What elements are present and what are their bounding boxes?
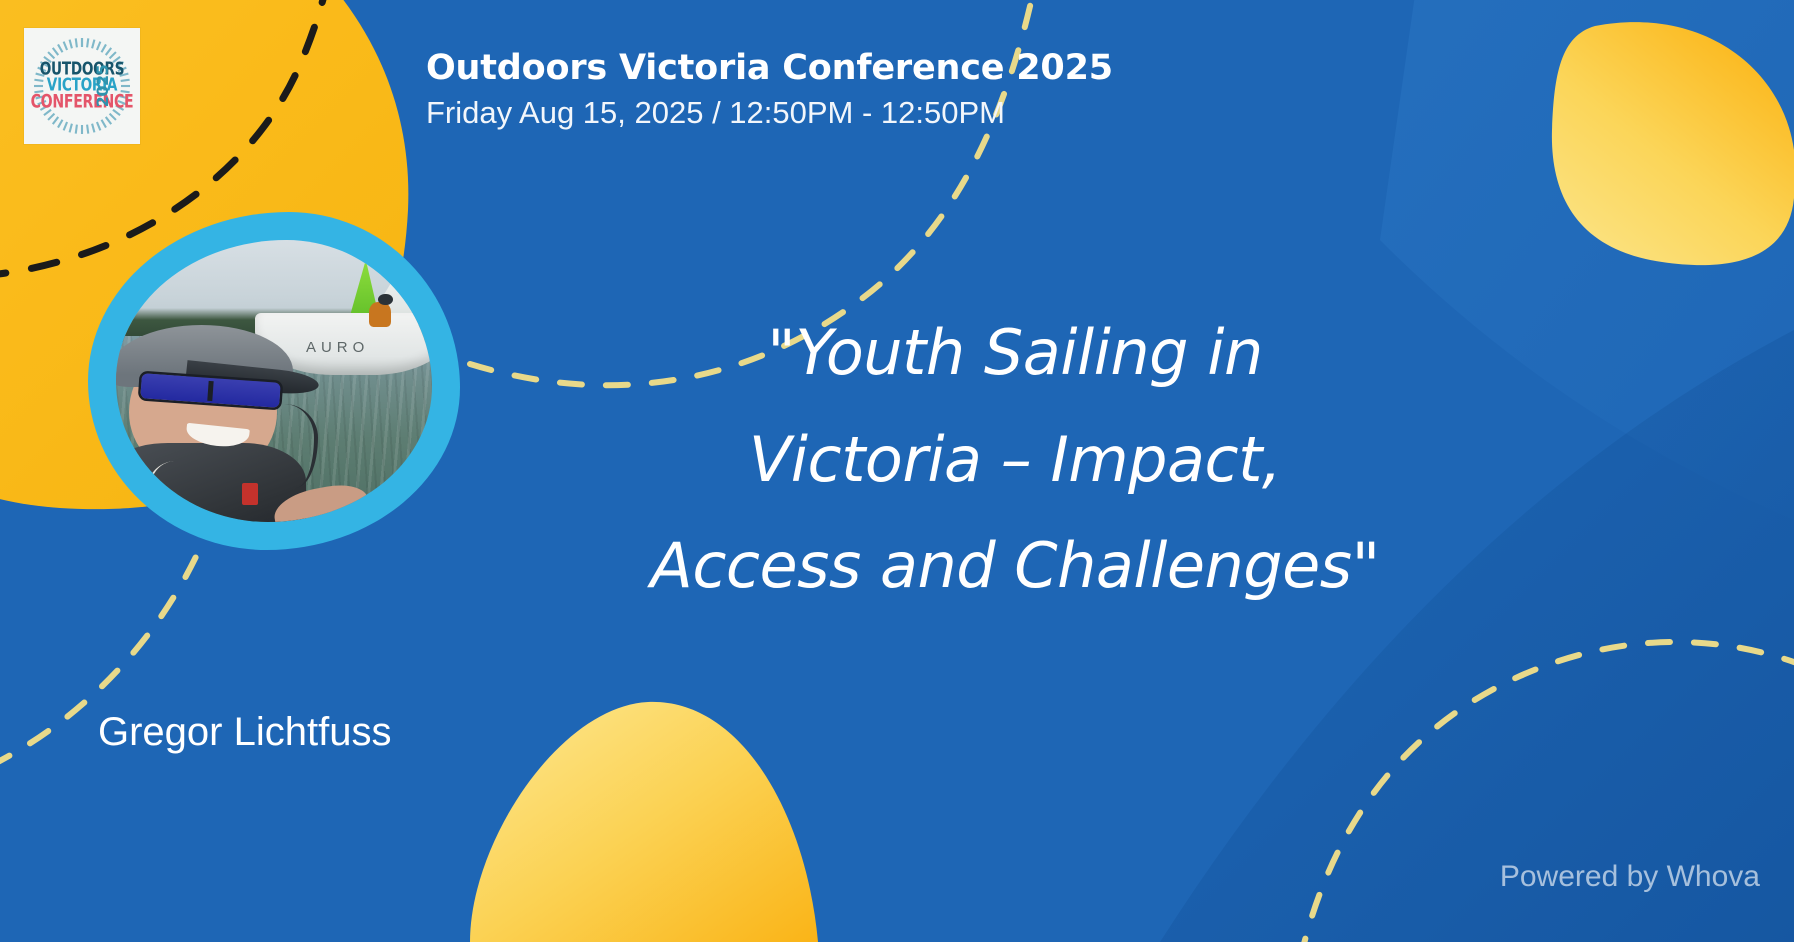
speaker-avatar: AURO	[88, 212, 460, 550]
conference-logo-wordmark: OUTDOORS VICTORIA CONFERENCE	[24, 62, 140, 111]
conference-logo: OUTDOORS VICTORIA CONFERENCE 2025	[24, 28, 140, 144]
photo-hydration-tube	[261, 404, 318, 489]
yellow-blob-bottom-center	[470, 702, 818, 942]
photo-crew-head	[378, 294, 392, 305]
photo-vest-buckle	[242, 483, 258, 506]
photo-boat-name: AURO	[306, 339, 369, 356]
event-header: Outdoors Victoria Conference 2025 Friday…	[426, 48, 1326, 133]
session-title: "Youth Sailing in Victoria – Impact, Acc…	[520, 300, 1510, 620]
event-datetime: Friday Aug 15, 2025 / 12:50PM - 12:50PM	[426, 94, 1326, 133]
session-title-line-3: Access and Challenges"	[520, 513, 1510, 620]
event-slide: OUTDOORS VICTORIA CONFERENCE 2025 Outdoo…	[0, 0, 1794, 942]
logo-line-conference: CONFERENCE	[27, 93, 136, 111]
speaker-name: Gregor Lichtfuss	[98, 710, 391, 754]
logo-year: 2025	[93, 65, 112, 108]
session-title-line-2: Victoria – Impact,	[520, 407, 1510, 514]
speaker-photo: AURO	[116, 240, 432, 522]
photo-crew-body	[369, 302, 391, 327]
session-title-line-1: "Youth Sailing in	[520, 300, 1510, 407]
powered-by-whova: Powered by Whova	[1500, 860, 1760, 894]
event-title: Outdoors Victoria Conference 2025	[426, 48, 1326, 88]
